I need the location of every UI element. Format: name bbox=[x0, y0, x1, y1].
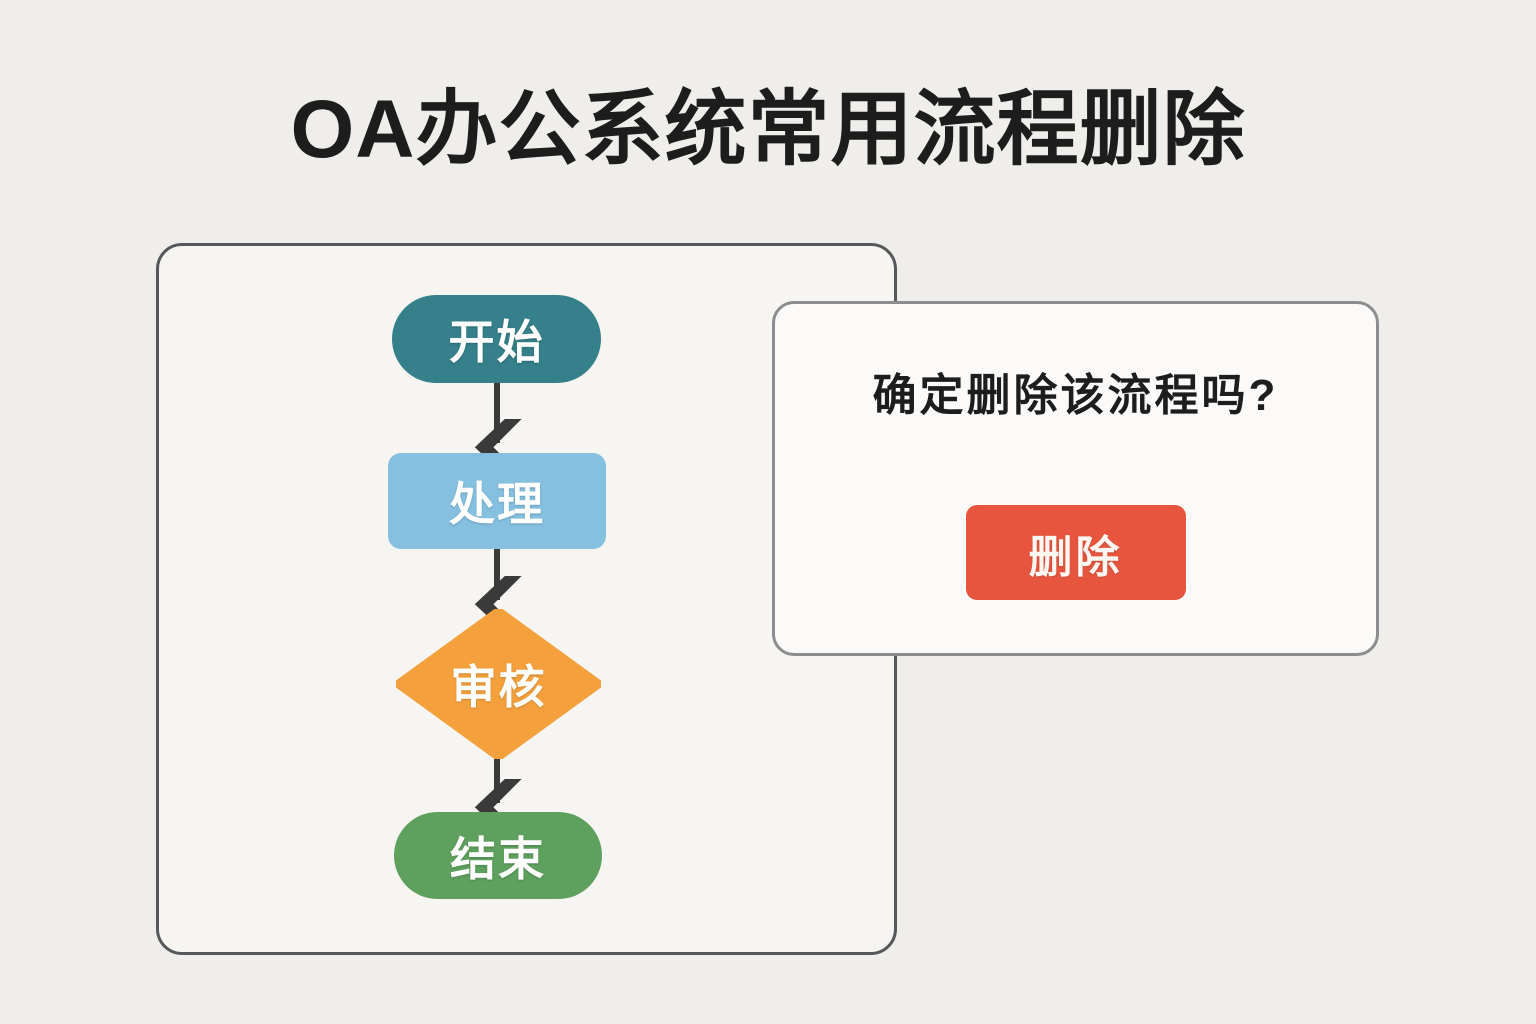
flow-node-end[interactable]: 结束 bbox=[394, 812, 602, 899]
delete-confirm-dialog: 确定删除该流程吗? 删除 bbox=[772, 301, 1379, 656]
dialog-message: 确定删除该流程吗? bbox=[775, 367, 1376, 425]
flow-node-process-label: 处理 bbox=[449, 468, 545, 534]
flow-node-decision-label: 审核 bbox=[396, 609, 601, 759]
page-title: OA办公系统常用流程删除 bbox=[0, 78, 1536, 182]
dialog-actions: 删除 bbox=[775, 505, 1376, 600]
flow-node-process[interactable]: 处理 bbox=[388, 453, 606, 549]
flow-node-start[interactable]: 开始 bbox=[392, 295, 601, 383]
flow-node-start-label: 开始 bbox=[449, 306, 545, 372]
delete-button[interactable]: 删除 bbox=[966, 505, 1186, 600]
flow-node-decision[interactable]: 审核 bbox=[396, 609, 601, 759]
diagram-canvas: OA办公系统常用流程删除 开始 处理 审核 结束 确定删除该流程吗? bbox=[0, 0, 1536, 1024]
flow-node-end-label: 结束 bbox=[450, 823, 546, 889]
